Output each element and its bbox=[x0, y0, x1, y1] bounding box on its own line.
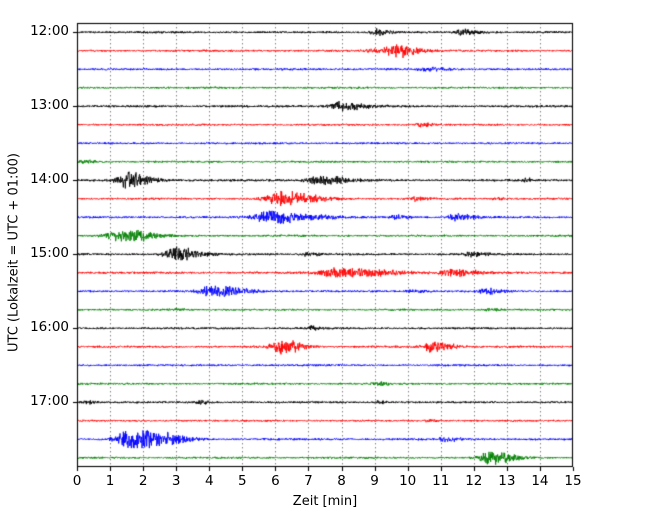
x-axis-label: Zeit [min] bbox=[0, 494, 650, 509]
y-tick-label: 12:00 bbox=[3, 23, 69, 39]
y-tick-label: 16:00 bbox=[3, 319, 69, 335]
y-tick-label: 17:00 bbox=[3, 393, 69, 409]
y-tick-label: 15:00 bbox=[3, 245, 69, 261]
y-tick-label: 14:00 bbox=[3, 171, 69, 187]
seismogram-plot-canvas bbox=[0, 0, 650, 520]
x-tick-label: 15 bbox=[553, 473, 593, 489]
y-tick-label: 13:00 bbox=[3, 97, 69, 113]
